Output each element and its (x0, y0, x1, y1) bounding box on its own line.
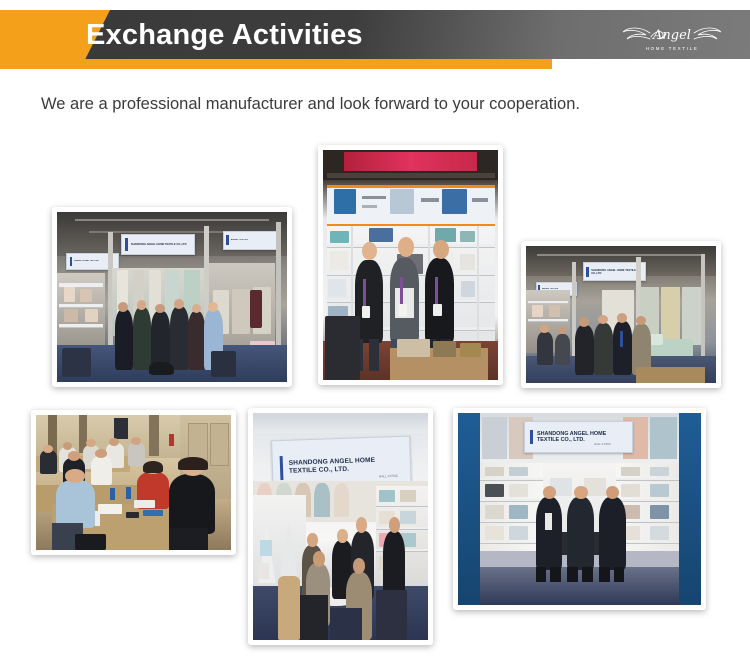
svg-text:Angel: Angel (652, 28, 691, 43)
gallery-photo-three-staff-in-booth[interactable]: SHANDONG ANGEL HOME TEXTILE CO., LTD. HA… (453, 408, 706, 610)
gallery-photo-trade-show-booth-group[interactable]: SHANDONG ANGEL HOME TEXTILE CO.,LTD ANGE… (52, 207, 292, 387)
gallery-photo-booth-meeting-table[interactable]: SHANDONG ANGEL HOME TEXTILE CO., LTD. HA… (248, 408, 433, 645)
logo-tagline: HOME TEXTILE (646, 46, 699, 51)
brand-logo: Angel HOME TEXTILE (618, 16, 726, 54)
booth-sign-note-photo6: HALL 9 F50C (594, 442, 628, 449)
page-title: Exchange Activities (86, 17, 363, 53)
photo-image: SHANDONG ANGEL HOME TEXTILE CO.,LTD ANGE… (57, 212, 287, 382)
photo-image (323, 150, 498, 380)
page-header: Exchange Activities Angel HOME TEXTILE (0, 0, 750, 78)
gallery-photo-buyer-meeting-room[interactable] (31, 410, 236, 555)
photo-image (36, 415, 231, 550)
photo-image: SHANDONG ANGEL HOME TEXTILE CO., LTD. HA… (458, 413, 701, 605)
photo-image: SHANDONG ANGEL HOME TEXTILE CO.,LTD ANGE… (526, 246, 716, 383)
gallery-photo-three-men-thumbs-up[interactable] (318, 145, 503, 385)
photo-image: SHANDONG ANGEL HOME TEXTILE CO., LTD. HA… (253, 413, 428, 640)
intro-text: We are a professional manufacturer and l… (41, 95, 580, 114)
booth-sign-text-photo5: SHANDONG ANGEL HOME TEXTILE CO., LTD. (289, 457, 376, 476)
gallery-photo-booth-visitors-group[interactable]: SHANDONG ANGEL HOME TEXTILE CO.,LTD ANGE… (521, 241, 721, 388)
